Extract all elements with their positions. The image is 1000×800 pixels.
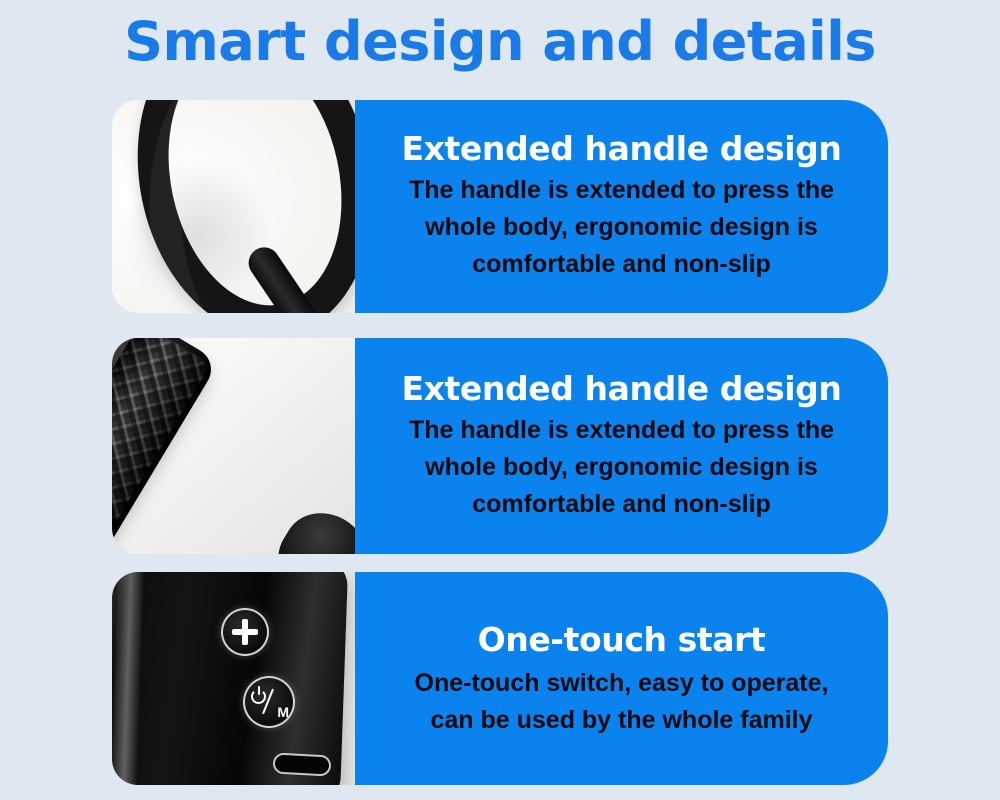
mode-letter-label: M	[277, 705, 289, 719]
feature-heading: Extended handle design	[402, 368, 842, 410]
product-photo-curved-handle	[112, 100, 355, 313]
feature-card: M One-touch start One-touch switch, easy…	[112, 572, 888, 785]
plus-icon	[232, 619, 258, 645]
feature-description: One-touch switch, easy to operate, can b…	[412, 665, 832, 739]
page-title: Smart design and details	[0, 8, 1000, 76]
usb-c-port-icon	[272, 752, 331, 776]
power-symbol-icon	[251, 689, 266, 704]
feature-text-panel: Extended handle design The handle is ext…	[355, 338, 888, 554]
product-photo-control-panel: M	[112, 572, 355, 785]
feature-description: The handle is extended to press the whol…	[382, 172, 862, 283]
feature-text-panel: One-touch start One-touch switch, easy t…	[355, 572, 888, 785]
feature-card: Extended handle design The handle is ext…	[112, 100, 888, 313]
feature-card: Extended handle design The handle is ext…	[112, 338, 888, 554]
device-body-shape	[112, 572, 348, 785]
feature-heading: One-touch start	[478, 617, 766, 663]
feature-description: The handle is extended to press the whol…	[371, 412, 872, 523]
feature-text-panel: Extended handle design The handle is ext…	[355, 100, 888, 313]
plus-button-icon	[221, 608, 269, 656]
infographic-page: Smart design and details Extended handle…	[0, 0, 1000, 800]
power-icon: M	[250, 687, 288, 717]
product-photo-textured-grip	[112, 338, 355, 554]
power-mode-button-icon: M	[243, 676, 295, 728]
feature-heading: Extended handle design	[402, 128, 842, 170]
